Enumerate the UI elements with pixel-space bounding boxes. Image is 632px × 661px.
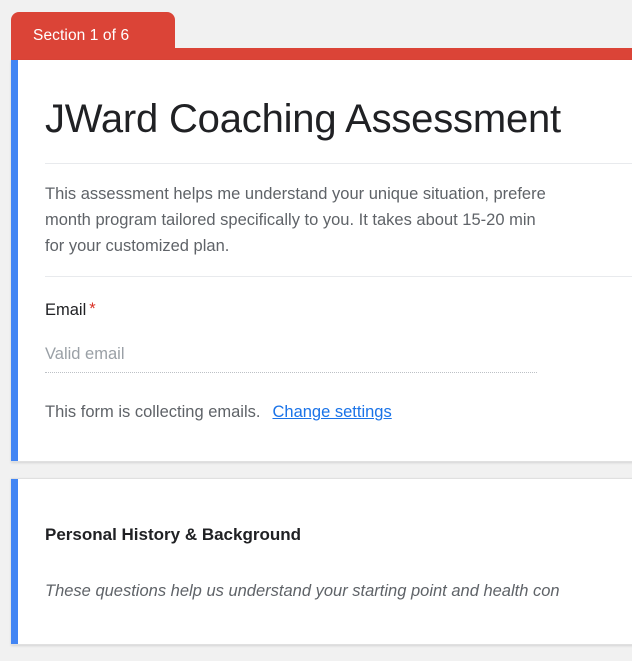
email-collection-notice-text: This form is collecting emails. bbox=[45, 403, 260, 421]
email-question-block: Email* Valid email This form is collecti… bbox=[45, 277, 632, 422]
required-asterisk: * bbox=[89, 300, 95, 318]
section-tab-row: Section 1 of 6 bbox=[11, 12, 632, 60]
email-label-text: Email bbox=[45, 301, 86, 319]
form-description-line: for your customized plan. bbox=[45, 233, 632, 259]
email-collection-notice: This form is collecting emails.Change se… bbox=[45, 403, 632, 422]
form-header-card-content: JWard Coaching Assessment This assessmen… bbox=[11, 60, 632, 422]
email-input-underline bbox=[45, 372, 537, 373]
email-input-wrapper[interactable]: Valid email bbox=[45, 346, 537, 374]
section-tab-label: Section 1 of 6 bbox=[33, 27, 129, 45]
email-question-label: Email* bbox=[45, 301, 632, 319]
change-settings-link[interactable]: Change settings bbox=[272, 403, 391, 421]
page-title[interactable]: JWard Coaching Assessment bbox=[45, 60, 632, 143]
card-accent-bar bbox=[11, 60, 18, 461]
card-accent-bar bbox=[11, 479, 18, 644]
section-description[interactable]: These questions help us understand your … bbox=[45, 545, 632, 603]
section-card[interactable]: Personal History & Background These ques… bbox=[11, 478, 632, 645]
form-description-line: This assessment helps me understand your… bbox=[45, 181, 632, 207]
section-tab[interactable]: Section 1 of 6 bbox=[11, 12, 175, 60]
google-forms-editor-viewport: Section 1 of 6 JWard Coaching Assessment… bbox=[0, 0, 632, 661]
email-input-placeholder: Valid email bbox=[45, 346, 537, 373]
form-description[interactable]: This assessment helps me understand your… bbox=[45, 164, 632, 259]
form-header-card[interactable]: JWard Coaching Assessment This assessmen… bbox=[11, 60, 632, 462]
section-card-content: Personal History & Background These ques… bbox=[11, 479, 632, 603]
form-description-line: month program tailored specifically to y… bbox=[45, 207, 632, 233]
section-title[interactable]: Personal History & Background bbox=[45, 479, 632, 545]
